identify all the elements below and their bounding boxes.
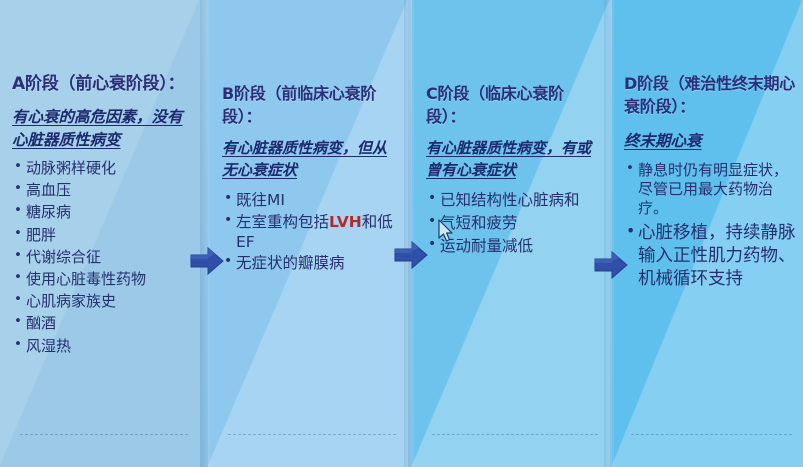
list-item: 无症状的瓣膜病 [222,254,398,274]
stage-c-title: C阶段（临床心衰阶段）： [426,82,600,128]
list-item: 肥胖 [12,226,192,245]
stage-b-subtitle: 有心脏器质性病变，但从无心衰症状 [222,138,398,182]
list-item: 心脏移植，持续静脉输入正性肌力药物、机械循环支持 [624,222,797,290]
mouse-pointer-icon [438,219,456,245]
stage-b-title: B阶段（前临床心衰阶段）： [222,82,398,128]
stage-panel-d[interactable]: D阶段（难治性终末期心衰阶段）： 终末期心衰 静息时仍有明显症状，尽管已用最大药… [612,0,803,467]
panel-dashed-rule [432,434,598,435]
stage-c-subtitle: 有心脏器质性病变，有或曾有心衰症状 [426,138,600,182]
list-item-text-part1: 左室重构包括 [236,213,329,231]
stage-a-title: A阶段（前心衰阶段）： [12,72,192,96]
list-item: 高血压 [12,181,192,200]
stage-d-bullet-list: 静息时仍有明显症状，尽管已用最大药物治疗。 心脏移植，持续静脉输入正性肌力药物、… [624,161,797,291]
list-item: 静息时仍有明显症状，尽管已用最大药物治疗。 [624,161,797,219]
list-item-text-highlight: LVH [329,213,362,231]
stage-a-content: A阶段（前心衰阶段）： 有心衰的高危因素，没有心脏器质性病变 动脉粥样硬化 高血… [0,72,200,359]
list-item: 已知结构性心脏病和 [426,191,600,211]
stage-b-content: B阶段（前临床心衰阶段）： 有心脏器质性病变，但从无心衰症状 既往MI 左室重构… [208,82,408,276]
stage-d-content: D阶段（难治性终末期心衰阶段）： 终末期心衰 静息时仍有明显症状，尽管已用最大药… [612,72,803,295]
list-item: 动脉粥样硬化 [12,159,192,178]
list-item: 左室重构包括LVH和低EF [222,213,398,253]
stage-d-title: D阶段（难治性终末期心衰阶段）： [624,72,797,118]
list-item: 心肌病家族史 [12,292,192,311]
stage-b-bullet-list: 既往MI 左室重构包括LVH和低EF 无症状的瓣膜病 [222,191,398,274]
arrow-b-to-c-icon [394,240,428,270]
list-item: 既往MI [222,191,398,211]
list-item: 风湿热 [12,337,192,356]
arrow-c-to-d-icon [594,250,628,280]
list-item: 代谢综合征 [12,248,192,267]
slide-canvas: A阶段（前心衰阶段）： 有心衰的高危因素，没有心脏器质性病变 动脉粥样硬化 高血… [0,0,803,467]
panel-dashed-rule [631,434,791,435]
list-item: 使用心脏毒性药物 [12,270,192,289]
stage-panel-a[interactable]: A阶段（前心衰阶段）： 有心衰的高危因素，没有心脏器质性病变 动脉粥样硬化 高血… [0,0,200,467]
panel-dashed-rule [20,434,188,435]
arrow-a-to-b-icon [190,246,224,276]
panel-dashed-rule [228,434,396,435]
stage-a-subtitle: 有心衰的高危因素，没有心脏器质性病变 [12,106,192,151]
stage-a-bullet-list: 动脉粥样硬化 高血压 糖尿病 肥胖 代谢综合征 使用心脏毒性药物 心肌病家族史 … [12,159,192,356]
stage-d-subtitle: 终末期心衰 [624,130,797,152]
list-item: 酗酒 [12,314,192,333]
list-item: 糖尿病 [12,203,192,222]
stage-panel-b[interactable]: B阶段（前临床心衰阶段）： 有心脏器质性病变，但从无心衰症状 既往MI 左室重构… [208,0,408,467]
